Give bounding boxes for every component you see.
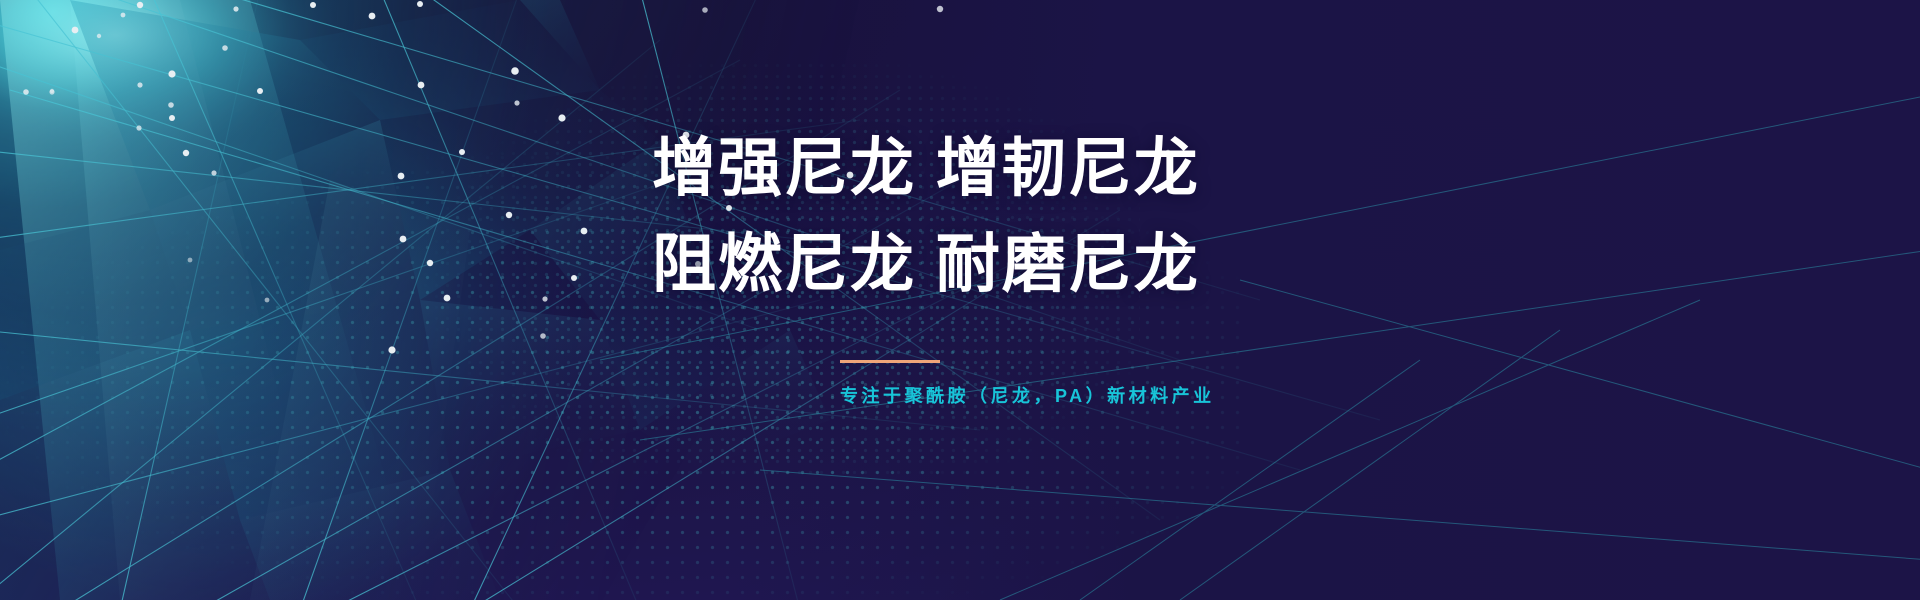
- hero-subtitle: 专注于聚酰胺（尼龙，PA）新材料产业: [840, 382, 1652, 408]
- accent-divider: [840, 360, 940, 363]
- headline-line-2: 阻燃尼龙 耐磨尼龙: [652, 216, 1652, 312]
- hero-banner: 增强尼龙 增韧尼龙 阻燃尼龙 耐磨尼龙 专注于聚酰胺（尼龙，PA）新材料产业: [0, 0, 1920, 600]
- hero-text-block: 增强尼龙 增韧尼龙 阻燃尼龙 耐磨尼龙 专注于聚酰胺（尼龙，PA）新材料产业: [652, 120, 1652, 408]
- headline-line-1: 增强尼龙 增韧尼龙: [652, 120, 1652, 216]
